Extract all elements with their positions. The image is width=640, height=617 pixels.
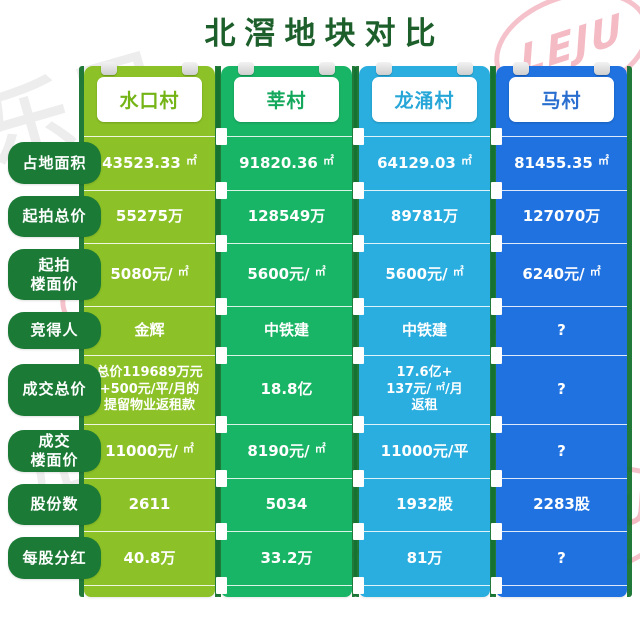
cell-r2-c3: 89781万 <box>359 190 490 243</box>
cell-r1-c4: 81455.35 ㎡ <box>496 136 627 190</box>
cell-value: 1932股 <box>363 495 486 514</box>
cell-r1-c2: 91820.36 ㎡ <box>221 136 352 190</box>
clip-icon-right <box>457 62 473 75</box>
cell-value: 81455.35 ㎡ <box>500 154 623 173</box>
cell-value: 11000元/ ㎡ <box>88 442 211 461</box>
divider-nub <box>353 128 364 145</box>
divider-nub <box>216 298 227 315</box>
cell-value: 中铁建 <box>225 321 348 340</box>
column-2: 莘村91820.36 ㎡128549万5600元/ ㎡中铁建18.8亿8190元… <box>221 66 352 597</box>
cell-r3-c4: 6240元/ ㎡ <box>496 243 627 306</box>
row-label-7: 股份数 <box>8 484 101 525</box>
cell-value: 中铁建 <box>363 321 486 340</box>
divider-nub <box>353 347 364 364</box>
divider-nub <box>491 128 502 145</box>
column-footer-4 <box>496 585 627 597</box>
divider-nub <box>353 235 364 252</box>
cell-value: 40.8万 <box>88 549 211 568</box>
cell-r4-c2: 中铁建 <box>221 306 352 355</box>
cell-r5-c1: 总价119689万元+500元/平/月的提留物业返租款 <box>84 355 215 424</box>
divider-nub <box>216 182 227 199</box>
cell-r5-c4: ? <box>496 355 627 424</box>
cell-value: 金辉 <box>88 321 211 340</box>
cell-r6-c4: ? <box>496 424 627 478</box>
row-label-5: 成交总价 <box>8 364 101 416</box>
cell-value: 5080元/ ㎡ <box>88 265 211 284</box>
cell-value: 64129.03 ㎡ <box>363 154 486 173</box>
cell-r7-c1: 2611 <box>84 478 215 531</box>
clip-icon-right <box>319 62 335 75</box>
cell-value: 8190元/ ㎡ <box>225 442 348 461</box>
cell-value: 33.2万 <box>225 549 348 568</box>
cell-r8-c3: 81万 <box>359 531 490 585</box>
cell-value: ? <box>500 321 623 340</box>
cell-value: ? <box>500 549 623 568</box>
cell-value: 43523.33 ㎡ <box>88 154 211 173</box>
column-header-3[interactable]: 龙涌村 <box>359 66 490 128</box>
cell-value: 2283股 <box>500 495 623 514</box>
row-label-1: 占地面积 <box>8 142 101 184</box>
cell-r6-c3: 11000元/平 <box>359 424 490 478</box>
cell-value: 5034 <box>225 495 348 514</box>
column-4: 马村81455.35 ㎡127070万6240元/ ㎡???2283股? <box>496 66 627 597</box>
column-title: 莘村 <box>234 77 339 122</box>
divider-nub <box>353 298 364 315</box>
column-footer-2 <box>221 585 352 597</box>
cell-r4-c1: 金辉 <box>84 306 215 355</box>
clip-icon-left <box>513 62 529 75</box>
cell-value: 89781万 <box>363 207 486 226</box>
cell-r7-c4: 2283股 <box>496 478 627 531</box>
cell-r3-c1: 5080元/ ㎡ <box>84 243 215 306</box>
cell-r6-c2: 8190元/ ㎡ <box>221 424 352 478</box>
cell-r6-c1: 11000元/ ㎡ <box>84 424 215 478</box>
cell-r2-c4: 127070万 <box>496 190 627 243</box>
divider-nub <box>353 182 364 199</box>
cell-r8-c4: ? <box>496 531 627 585</box>
column-header-4[interactable]: 马村 <box>496 66 627 128</box>
cell-r3-c3: 5600元/ ㎡ <box>359 243 490 306</box>
row-label-2: 起拍总价 <box>8 196 101 237</box>
cell-r1-c3: 64129.03 ㎡ <box>359 136 490 190</box>
clip-icon-right <box>594 62 610 75</box>
page-title: 北滘地块对比 <box>0 8 640 53</box>
column-title: 龙涌村 <box>372 77 477 122</box>
cell-value: 5600元/ ㎡ <box>225 265 348 284</box>
cell-r8-c2: 33.2万 <box>221 531 352 585</box>
column-title: 马村 <box>509 77 614 122</box>
cell-value: 128549万 <box>225 207 348 226</box>
divider-nub <box>491 577 502 594</box>
cell-r4-c4: ? <box>496 306 627 355</box>
cell-value: 55275万 <box>88 207 211 226</box>
divider-nub <box>353 416 364 433</box>
divider-nub <box>491 523 502 540</box>
divider-nub <box>216 128 227 145</box>
cell-value: 5600元/ ㎡ <box>363 265 486 284</box>
cell-r1-c1: 43523.33 ㎡ <box>84 136 215 190</box>
divider-nub <box>216 347 227 364</box>
cell-r3-c2: 5600元/ ㎡ <box>221 243 352 306</box>
clip-icon-left <box>101 62 117 75</box>
column-header-2[interactable]: 莘村 <box>221 66 352 128</box>
divider-nub <box>353 470 364 487</box>
column-footer-1 <box>84 585 215 597</box>
divider-nub <box>216 416 227 433</box>
clip-icon-right <box>182 62 198 75</box>
infographic-canvas: 乐居 乐居 乐居 乐居 LEJU LEJU LEJU LEJU LEJU 北滘地… <box>0 0 640 617</box>
divider-nub <box>491 347 502 364</box>
clip-icon-left <box>238 62 254 75</box>
cell-value: 11000元/平 <box>363 442 486 461</box>
divider-nub <box>353 523 364 540</box>
cell-value: ? <box>500 442 623 461</box>
cell-value: 17.6亿+137元/ ㎡/月返租 <box>363 365 486 415</box>
divider-nub <box>491 416 502 433</box>
divider-nub <box>216 523 227 540</box>
divider-nub <box>491 470 502 487</box>
cell-value: 127070万 <box>500 207 623 226</box>
column-edge-right <box>627 66 632 597</box>
cell-value: ? <box>500 380 623 399</box>
cell-r7-c2: 5034 <box>221 478 352 531</box>
divider-nub <box>491 235 502 252</box>
divider-nub <box>216 235 227 252</box>
column-3: 龙涌村64129.03 ㎡89781万5600元/ ㎡中铁建17.6亿+137元… <box>359 66 490 597</box>
row-label-3: 起拍楼面价 <box>8 249 101 300</box>
cell-r8-c1: 40.8万 <box>84 531 215 585</box>
divider-nub <box>216 470 227 487</box>
cell-r7-c3: 1932股 <box>359 478 490 531</box>
divider-nub <box>353 577 364 594</box>
cell-value: 81万 <box>363 549 486 568</box>
cell-r2-c2: 128549万 <box>221 190 352 243</box>
column-title: 水口村 <box>97 77 202 122</box>
cell-r2-c1: 55275万 <box>84 190 215 243</box>
cell-value: 6240元/ ㎡ <box>500 265 623 284</box>
divider-nub <box>216 577 227 594</box>
cell-value: 18.8亿 <box>225 380 348 399</box>
cell-value: 总价119689万元+500元/平/月的提留物业返租款 <box>88 365 211 415</box>
clip-icon-left <box>376 62 392 75</box>
column-footer-3 <box>359 585 490 597</box>
row-label-4: 竞得人 <box>8 312 101 349</box>
divider-nub <box>491 182 502 199</box>
row-label-8: 每股分红 <box>8 537 101 579</box>
cell-r4-c3: 中铁建 <box>359 306 490 355</box>
divider-nub <box>491 298 502 315</box>
column-header-1[interactable]: 水口村 <box>84 66 215 128</box>
cell-value: 2611 <box>88 495 211 514</box>
cell-r5-c3: 17.6亿+137元/ ㎡/月返租 <box>359 355 490 424</box>
cell-value: 91820.36 ㎡ <box>225 154 348 173</box>
row-label-6: 成交楼面价 <box>8 430 101 472</box>
cell-r5-c2: 18.8亿 <box>221 355 352 424</box>
column-1: 水口村43523.33 ㎡55275万5080元/ ㎡金辉总价119689万元+… <box>84 66 215 597</box>
